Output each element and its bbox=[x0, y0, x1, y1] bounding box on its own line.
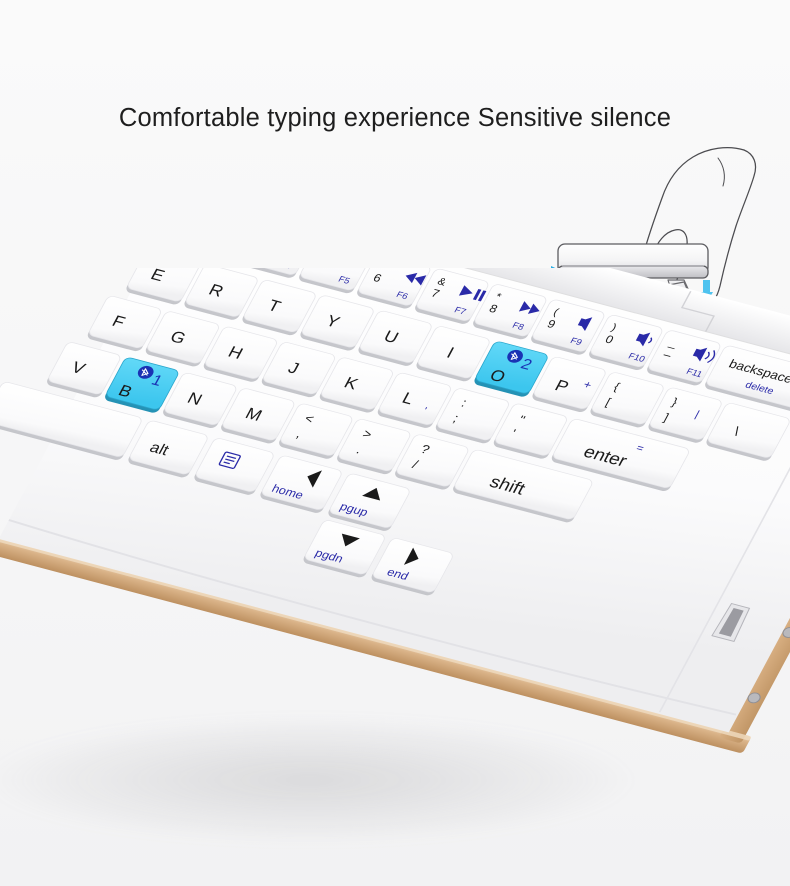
keyboard-product-image: # 3 F3 $ 4 F4 bbox=[0, 268, 790, 886]
page-title: Comfortable typing experience Sensitive … bbox=[0, 104, 790, 133]
product-marketing-image: Comfortable typing experience Sensitive … bbox=[0, 0, 790, 886]
